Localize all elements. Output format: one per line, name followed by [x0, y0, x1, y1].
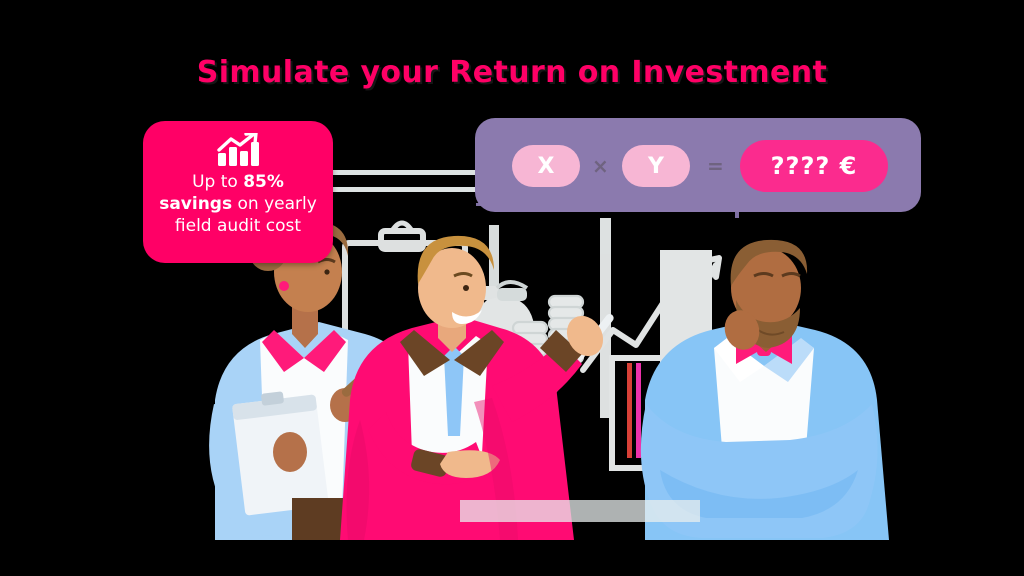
multiply-operator: ×	[592, 154, 609, 178]
equals-operator: =	[707, 154, 724, 178]
figure-man-pointing	[340, 236, 615, 540]
badge-line2-strong: savings	[159, 194, 232, 214]
bar-chart-growth-icon	[216, 133, 260, 167]
variable-x-pill[interactable]: X	[512, 145, 580, 187]
screenshot-stage: Simulate your Return on Investment	[0, 0, 1024, 576]
roi-formula-bar[interactable]: X × Y = ???? €	[475, 118, 921, 212]
variable-y-pill[interactable]: Y	[622, 145, 690, 187]
result-pill[interactable]: ???? €	[740, 140, 888, 192]
badge-line1-strong: 85%	[243, 172, 284, 192]
savings-badge-text: Up to 85% savings on yearly field audit …	[143, 171, 333, 237]
illustration-artwork	[0, 0, 1024, 576]
badge-line3: field audit cost	[175, 216, 301, 236]
badge-line2-rest: on yearly	[232, 194, 317, 214]
badge-line1-prefix: Up to	[192, 172, 243, 192]
savings-badge[interactable]: Up to 85% savings on yearly field audit …	[143, 121, 333, 263]
